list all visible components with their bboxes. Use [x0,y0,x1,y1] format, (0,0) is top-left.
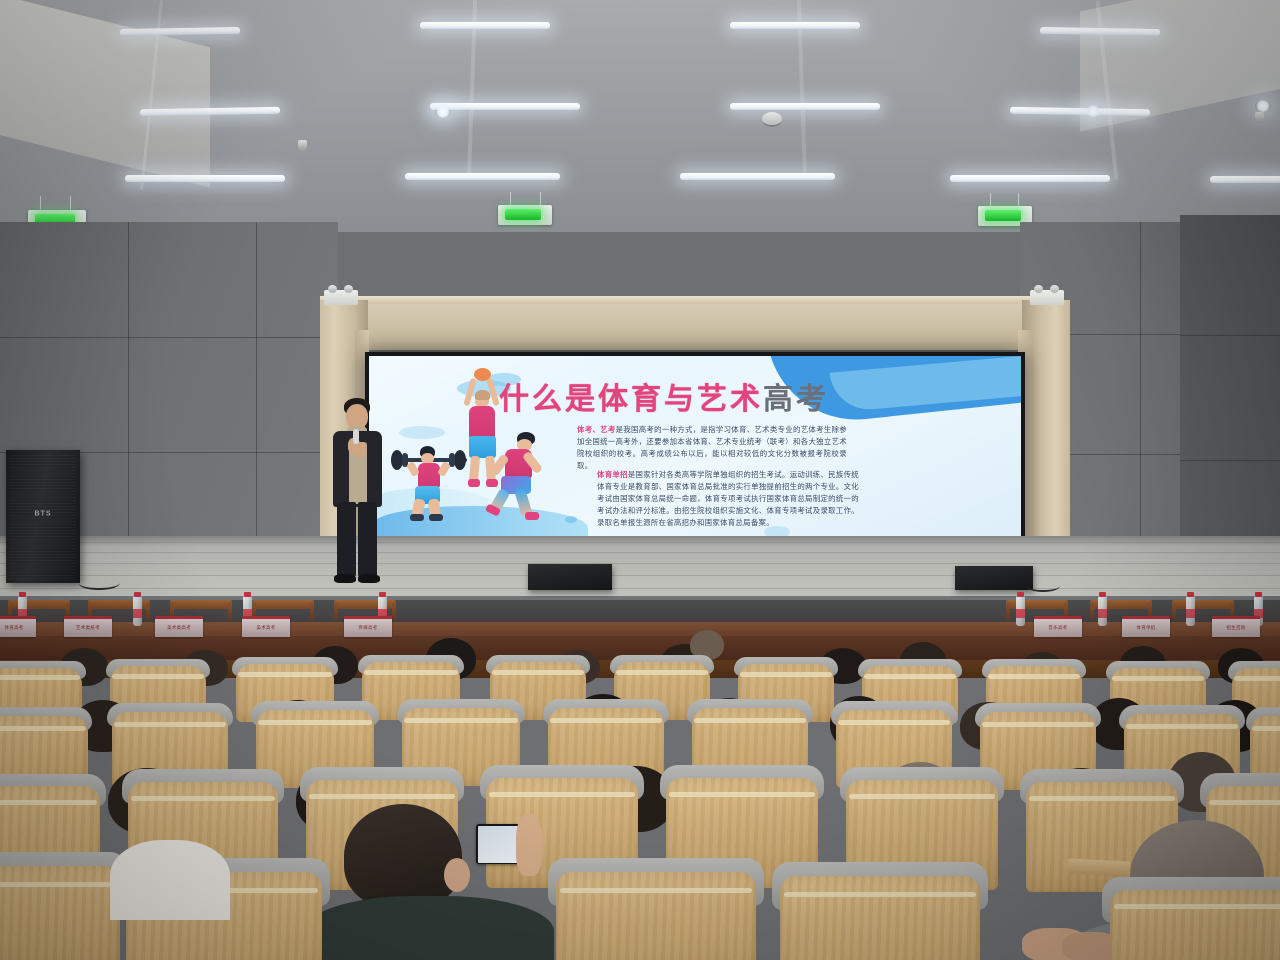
attendee-photographing [330,800,540,960]
slide-paragraph-2: 体育单招是国家针对各类高等学院单独组织的招生考试。运动训练、民族传统体育专业是教… [597,469,859,529]
speaker-cable [78,576,120,590]
attendee-head [344,804,462,908]
presenter-shoe [334,574,356,583]
attendee-hand [516,814,542,876]
stage-shadow [0,536,1280,546]
slide-title-primary: 什么是体育与艺术 [499,382,763,417]
auditorium-seat-foreground[interactable] [780,876,980,960]
ceiling-light-strip [125,175,285,182]
presentation-slide: 什么是体育与艺术高考 体考、艺考是我国高考的一种方式，是指学习体育、艺术类专业的… [369,356,1021,548]
slide-paragraph-1: 体考、艺考是我国高考的一种方式，是指学习体育、艺术类专业的艺体考生除参加全国统一… [577,424,847,472]
presenter-hand [355,442,366,457]
emergency-light-left [324,290,358,305]
attendee-shoulders [304,896,554,960]
exit-sign-center [498,205,552,225]
ceiling-light-strip [140,107,280,116]
downlight [435,106,451,118]
ceiling [0,0,1280,232]
side-wall-right [1180,215,1280,585]
rear-shadow [0,600,1280,660]
slide-dot [565,516,577,523]
downlight [1255,100,1271,112]
sprinkler-head-icon [1255,112,1264,123]
slide-paragraph-2-text: 是国家针对各类高等学院单独组织的招生考试。运动训练、民族传统体育专业是教育部、国… [597,470,859,527]
stage-monitor-center [528,564,612,590]
exit-sign-glow [505,209,541,220]
ceiling-light-strip [1010,107,1150,116]
pa-speaker-left: BTS [6,450,80,583]
screen-header-trim [320,296,1032,304]
attendee-ear [444,858,470,892]
monitor-cable [1026,580,1060,592]
presenter-leg [358,502,377,576]
slide-paragraph-2-keyword: 体育单招 [597,470,628,479]
slide-title-secondary: 高考 [763,382,829,417]
led-screen: 什么是体育与艺术高考 体考、艺考是我国高考的一种方式，是指学习体育、艺术类专业的… [365,352,1025,552]
ceiling-light-strip [430,103,580,110]
slide-paragraph-1-keyword: 体考、艺考 [577,425,616,434]
ceiling-light-strip [405,173,560,180]
presenter-head [346,404,368,429]
ceiling-light-strip [680,173,835,180]
microphone [353,429,359,444]
weightlifter-athlete-illustration [391,444,471,524]
auditorium-seat-foreground[interactable] [556,872,756,960]
slide-title: 什么是体育与艺术高考 [499,374,829,418]
auditorium-seat-foreground[interactable] [1110,890,1280,960]
ceiling-light-strip [1040,27,1160,36]
ceiling-light-strip [730,22,860,29]
smoke-detector-icon [762,112,782,127]
ceiling-light-strip [120,27,240,36]
slide-cloud [399,426,445,439]
presenter-leg [337,502,356,576]
ceiling-light-strip [420,22,550,29]
runner-athlete-illustration [481,432,561,530]
presenter-shoe [358,574,380,583]
ceiling-light-strip [950,175,1110,182]
downlight [1085,105,1101,117]
sprinkler-head-icon [298,140,307,151]
attendee-foreground-left [100,800,230,920]
presenter [318,398,394,588]
exit-sign-glow [985,210,1021,221]
attendee-shoulders [110,840,230,920]
auditorium-photo: 什么是体育与艺术高考 体考、艺考是我国高考的一种方式，是指学习体育、艺术类专业的… [0,0,1280,960]
speaker-logo: BTS [35,510,52,517]
ceiling-light-strip [730,103,880,110]
screen-header-beam [320,300,1032,350]
emergency-light-right [1030,290,1064,305]
stage-monitor-right [955,566,1033,590]
slide-paragraph-1-text: 是我国高考的一种方式，是指学习体育、艺术类专业的艺体考生除参加全国统一高考外，还… [577,425,847,470]
ceiling-light-strip [1210,176,1280,183]
